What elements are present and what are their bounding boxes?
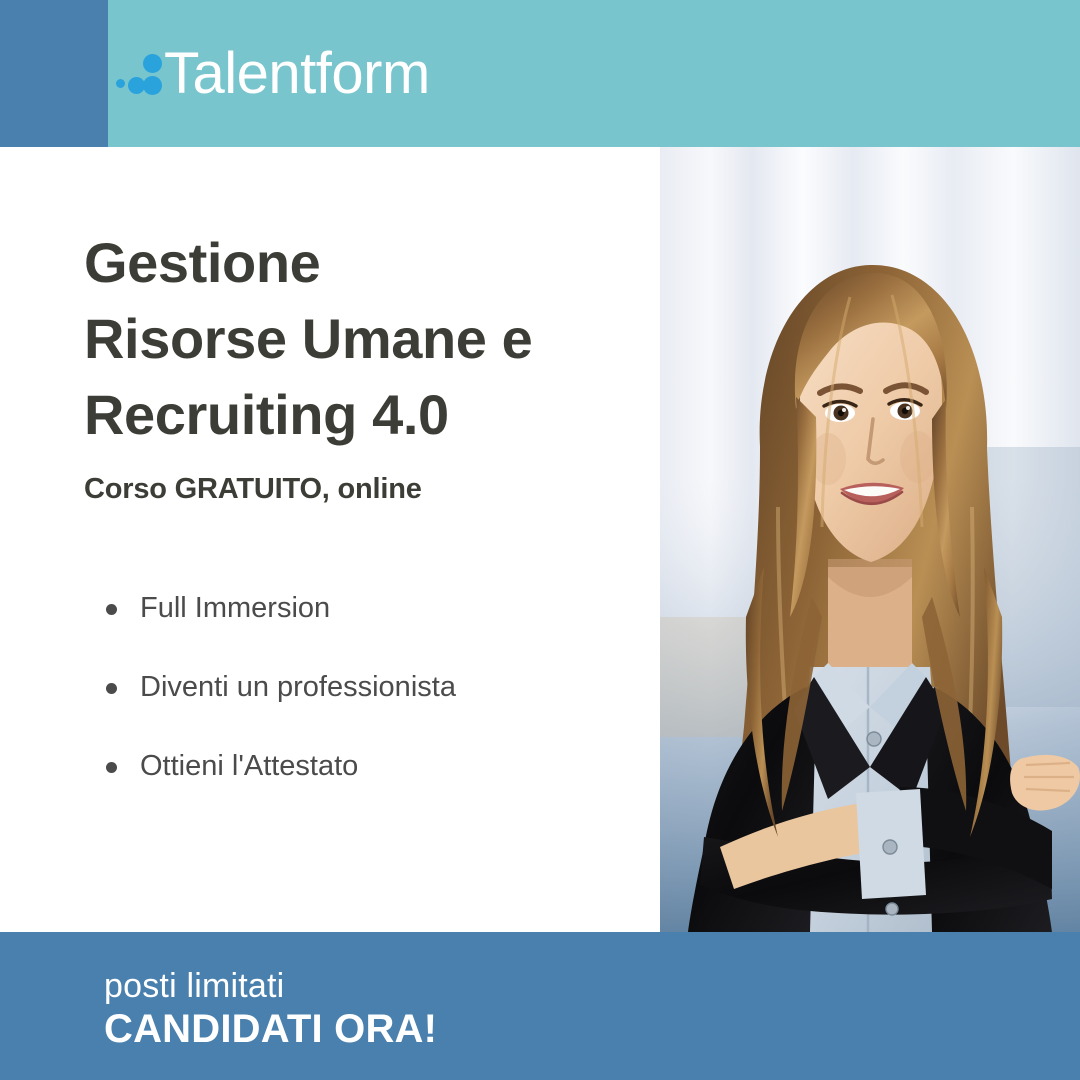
brand-logo[interactable]: Talentform (116, 42, 430, 106)
promo-poster: Talentform Gestione Risorse Umane e Recr… (0, 0, 1080, 1080)
cta-text-group: posti limitati CANDIDATI ORA! (104, 966, 437, 1053)
list-item: Ottieni l'Attestato (84, 752, 644, 781)
list-item: Full Immersion (84, 594, 644, 623)
cta-main-label: CANDIDATI ORA! (104, 1006, 437, 1053)
logo-dot-top-right (143, 54, 162, 73)
logo-dot-small (116, 79, 125, 88)
subtitle: Corso GRATUITO, online (84, 473, 644, 506)
benefits-list: Full Immersion Diventi un professionista… (84, 594, 644, 781)
four-dots-icon (116, 51, 162, 97)
businesswoman-photo (660, 147, 1080, 932)
header-accent-band (0, 0, 108, 147)
page-title: Gestione Risorse Umane e Recruiting 4.0 (84, 225, 644, 453)
logo-dot-bottom-right (143, 76, 162, 95)
list-item: Diventi un professionista (84, 673, 644, 702)
cta-pre-label: posti limitati (104, 966, 437, 1006)
header-bar: Talentform (0, 0, 1080, 147)
content-column: Gestione Risorse Umane e Recruiting 4.0 … (84, 225, 644, 831)
brand-name: Talentform (164, 45, 430, 103)
cta-banner[interactable]: posti limitati CANDIDATI ORA! (0, 932, 1080, 1080)
